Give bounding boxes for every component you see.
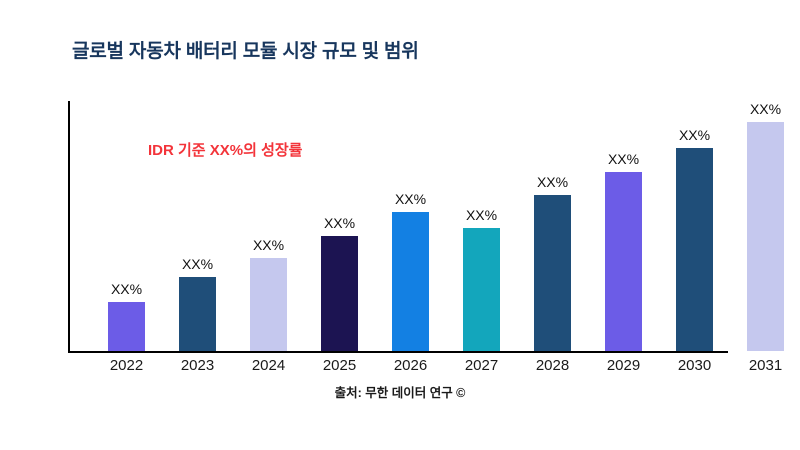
bar-value-label: XX% (679, 127, 710, 143)
x-tick-2025: 2025 (309, 357, 370, 374)
bar-value-label: XX% (182, 256, 213, 272)
bar-2030[interactable]: XX% (676, 148, 713, 351)
bar-value-label: XX% (111, 281, 142, 297)
x-tick-2031: 2031 (735, 357, 796, 374)
bar-value-label: XX% (537, 174, 568, 190)
bar-2027[interactable]: XX% (463, 228, 500, 351)
bar-2026[interactable]: XX% (392, 212, 429, 351)
bar-value-label: XX% (395, 191, 426, 207)
x-tick-2022: 2022 (96, 357, 157, 374)
source-note: 출처: 무한 데이터 연구 © (0, 382, 800, 401)
page-title: 글로벌 자동차 배터리 모듈 시장 규모 및 범위 (72, 36, 419, 63)
y-axis-line (68, 101, 70, 352)
bar-2023[interactable]: XX% (179, 277, 216, 351)
growth-rate-annotation: IDR 기준 XX%의 성장률 (148, 139, 302, 160)
bar-2025[interactable]: XX% (321, 236, 358, 351)
x-tick-2030: 2030 (664, 357, 725, 374)
x-tick-2029: 2029 (593, 357, 654, 374)
x-tick-2024: 2024 (238, 357, 299, 374)
x-tick-2026: 2026 (380, 357, 441, 374)
x-axis-line (68, 351, 728, 353)
bar-2029[interactable]: XX% (605, 172, 642, 351)
bar-value-label: XX% (466, 207, 497, 223)
x-tick-2027: 2027 (451, 357, 512, 374)
bar-value-label: XX% (324, 215, 355, 231)
bar-2028[interactable]: XX% (534, 195, 571, 351)
bar-2022[interactable]: XX% (108, 302, 145, 351)
bar-2031[interactable]: XX% (747, 122, 784, 351)
bar-2024[interactable]: XX% (250, 258, 287, 351)
bar-value-label: XX% (253, 237, 284, 253)
x-tick-2028: 2028 (522, 357, 583, 374)
bar-value-label: XX% (750, 101, 781, 117)
bar-value-label: XX% (608, 151, 639, 167)
x-tick-2023: 2023 (167, 357, 228, 374)
bar-chart-figure: 글로벌 자동차 배터리 모듈 시장 규모 및 범위 미화 백만 달러 XX%XX… (0, 0, 800, 450)
